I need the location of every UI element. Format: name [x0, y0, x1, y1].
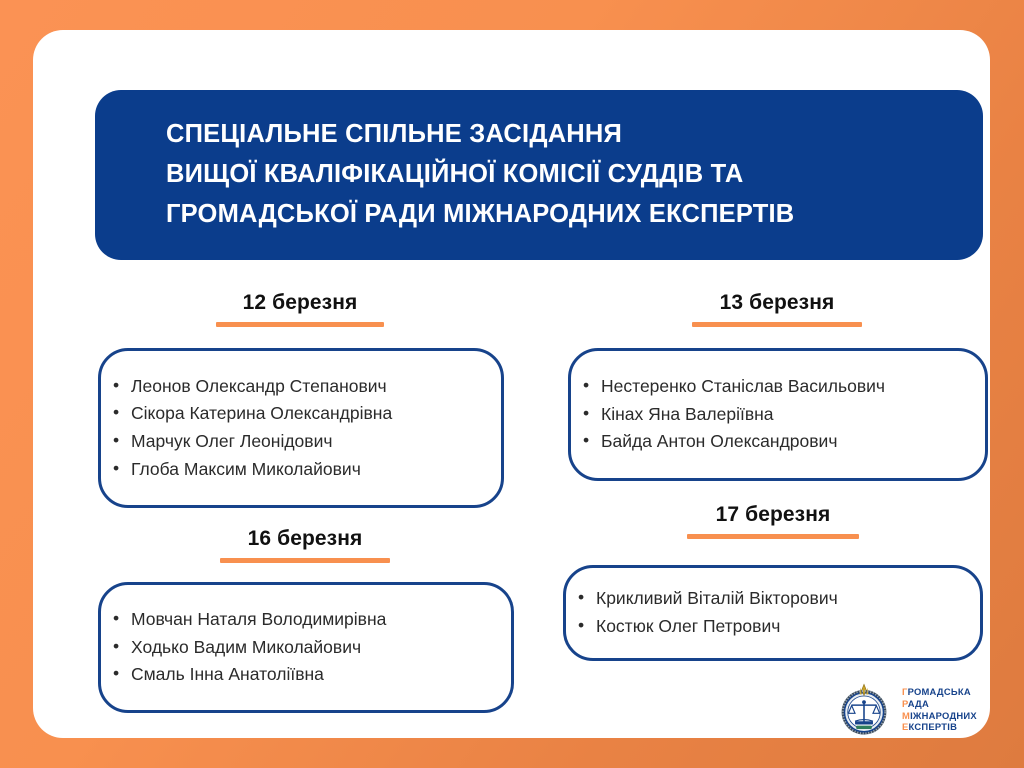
date-header-17-bereznya: 17 березня	[563, 504, 983, 539]
list-item: Сікора Катерина Олександрівна	[131, 400, 501, 428]
date-underline-accent	[692, 322, 862, 327]
justice-scales-seal-icon	[836, 682, 892, 738]
list-item: Марчук Олег Леонідович	[131, 428, 501, 456]
title-line-3: ГРОМАДСЬКОЇ РАДИ МІЖНАРОДНИХ ЕКСПЕРТІВ	[166, 195, 983, 235]
list-item: Смаль Інна Анатоліївна	[131, 661, 511, 689]
title-banner: СПЕЦІАЛЬНЕ СПІЛЬНЕ ЗАСІДАННЯ ВИЩОЇ КВАЛІ…	[95, 90, 983, 260]
name-list: Крикливий Віталій Вікторович Костюк Олег…	[566, 585, 980, 640]
name-card-13-bereznya: Нестеренко Станіслав Васильович Кінах Ян…	[568, 348, 988, 481]
logo-rest-text: КСПЕРТІВ	[909, 721, 958, 732]
title-line-2: ВИЩОЇ КВАЛІФІКАЦІЙНОЇ КОМІСІЇ СУДДІВ ТА	[166, 155, 983, 195]
logo-line-3: МІЖНАРОДНИХ	[902, 711, 977, 722]
date-underline-accent	[216, 322, 384, 327]
date-header-13-bereznya: 13 березня	[567, 292, 987, 327]
name-list: Мовчан Наталя Володимирівна Ходько Вадим…	[101, 606, 511, 689]
logo-wordmark: ГРОМАДСЬКА РАДА МІЖНАРОДНИХ ЕКСПЕРТІВ	[902, 687, 977, 732]
list-item: Крикливий Віталій Вікторович	[596, 585, 980, 613]
title-line-1: СПЕЦІАЛЬНЕ СПІЛЬНЕ ЗАСІДАННЯ	[166, 115, 983, 155]
list-item: Глоба Максим Миколайович	[131, 456, 501, 484]
white-sheet: СПЕЦІАЛЬНЕ СПІЛЬНЕ ЗАСІДАННЯ ВИЩОЇ КВАЛІ…	[33, 30, 990, 738]
logo-line-1: ГРОМАДСЬКА	[902, 687, 977, 698]
date-label: 16 березня	[97, 528, 513, 549]
date-underline-accent	[220, 558, 390, 563]
poster-background: СПЕЦІАЛЬНЕ СПІЛЬНЕ ЗАСІДАННЯ ВИЩОЇ КВАЛІ…	[0, 0, 1024, 768]
name-card-12-bereznya: Леонов Олександр Степанович Сікора Катер…	[98, 348, 504, 508]
date-header-12-bereznya: 12 березня	[97, 292, 503, 327]
name-list: Леонов Олександр Степанович Сікора Катер…	[101, 373, 501, 484]
date-label: 12 березня	[97, 292, 503, 313]
list-item: Нестеренко Станіслав Васильович	[601, 373, 985, 401]
logo-line-2: РАДА	[902, 699, 977, 710]
list-item: Кінах Яна Валеріївна	[601, 401, 985, 429]
organization-logo: ГРОМАДСЬКА РАДА МІЖНАРОДНИХ ЕКСПЕРТІВ	[836, 680, 988, 740]
logo-line-4: ЕКСПЕРТІВ	[902, 722, 977, 733]
list-item: Леонов Олександр Степанович	[131, 373, 501, 401]
name-list: Нестеренко Станіслав Васильович Кінах Ян…	[571, 373, 985, 456]
name-card-16-bereznya: Мовчан Наталя Володимирівна Ходько Вадим…	[98, 582, 514, 713]
list-item: Мовчан Наталя Володимирівна	[131, 606, 511, 634]
date-header-16-bereznya: 16 березня	[97, 528, 513, 563]
list-item: Байда Антон Олександрович	[601, 428, 985, 456]
logo-rest-text: ІЖНАРОДНИХ	[910, 710, 977, 721]
logo-lead-letter: М	[902, 710, 910, 721]
date-underline-accent	[687, 534, 859, 539]
list-item: Костюк Олег Петрович	[596, 613, 980, 641]
name-card-17-bereznya: Крикливий Віталій Вікторович Костюк Олег…	[563, 565, 983, 661]
logo-rest-text: АДА	[908, 698, 929, 709]
list-item: Ходько Вадим Миколайович	[131, 634, 511, 662]
date-label: 13 березня	[567, 292, 987, 313]
logo-rest-text: РОМАДСЬКА	[908, 686, 971, 697]
date-label: 17 березня	[563, 504, 983, 525]
